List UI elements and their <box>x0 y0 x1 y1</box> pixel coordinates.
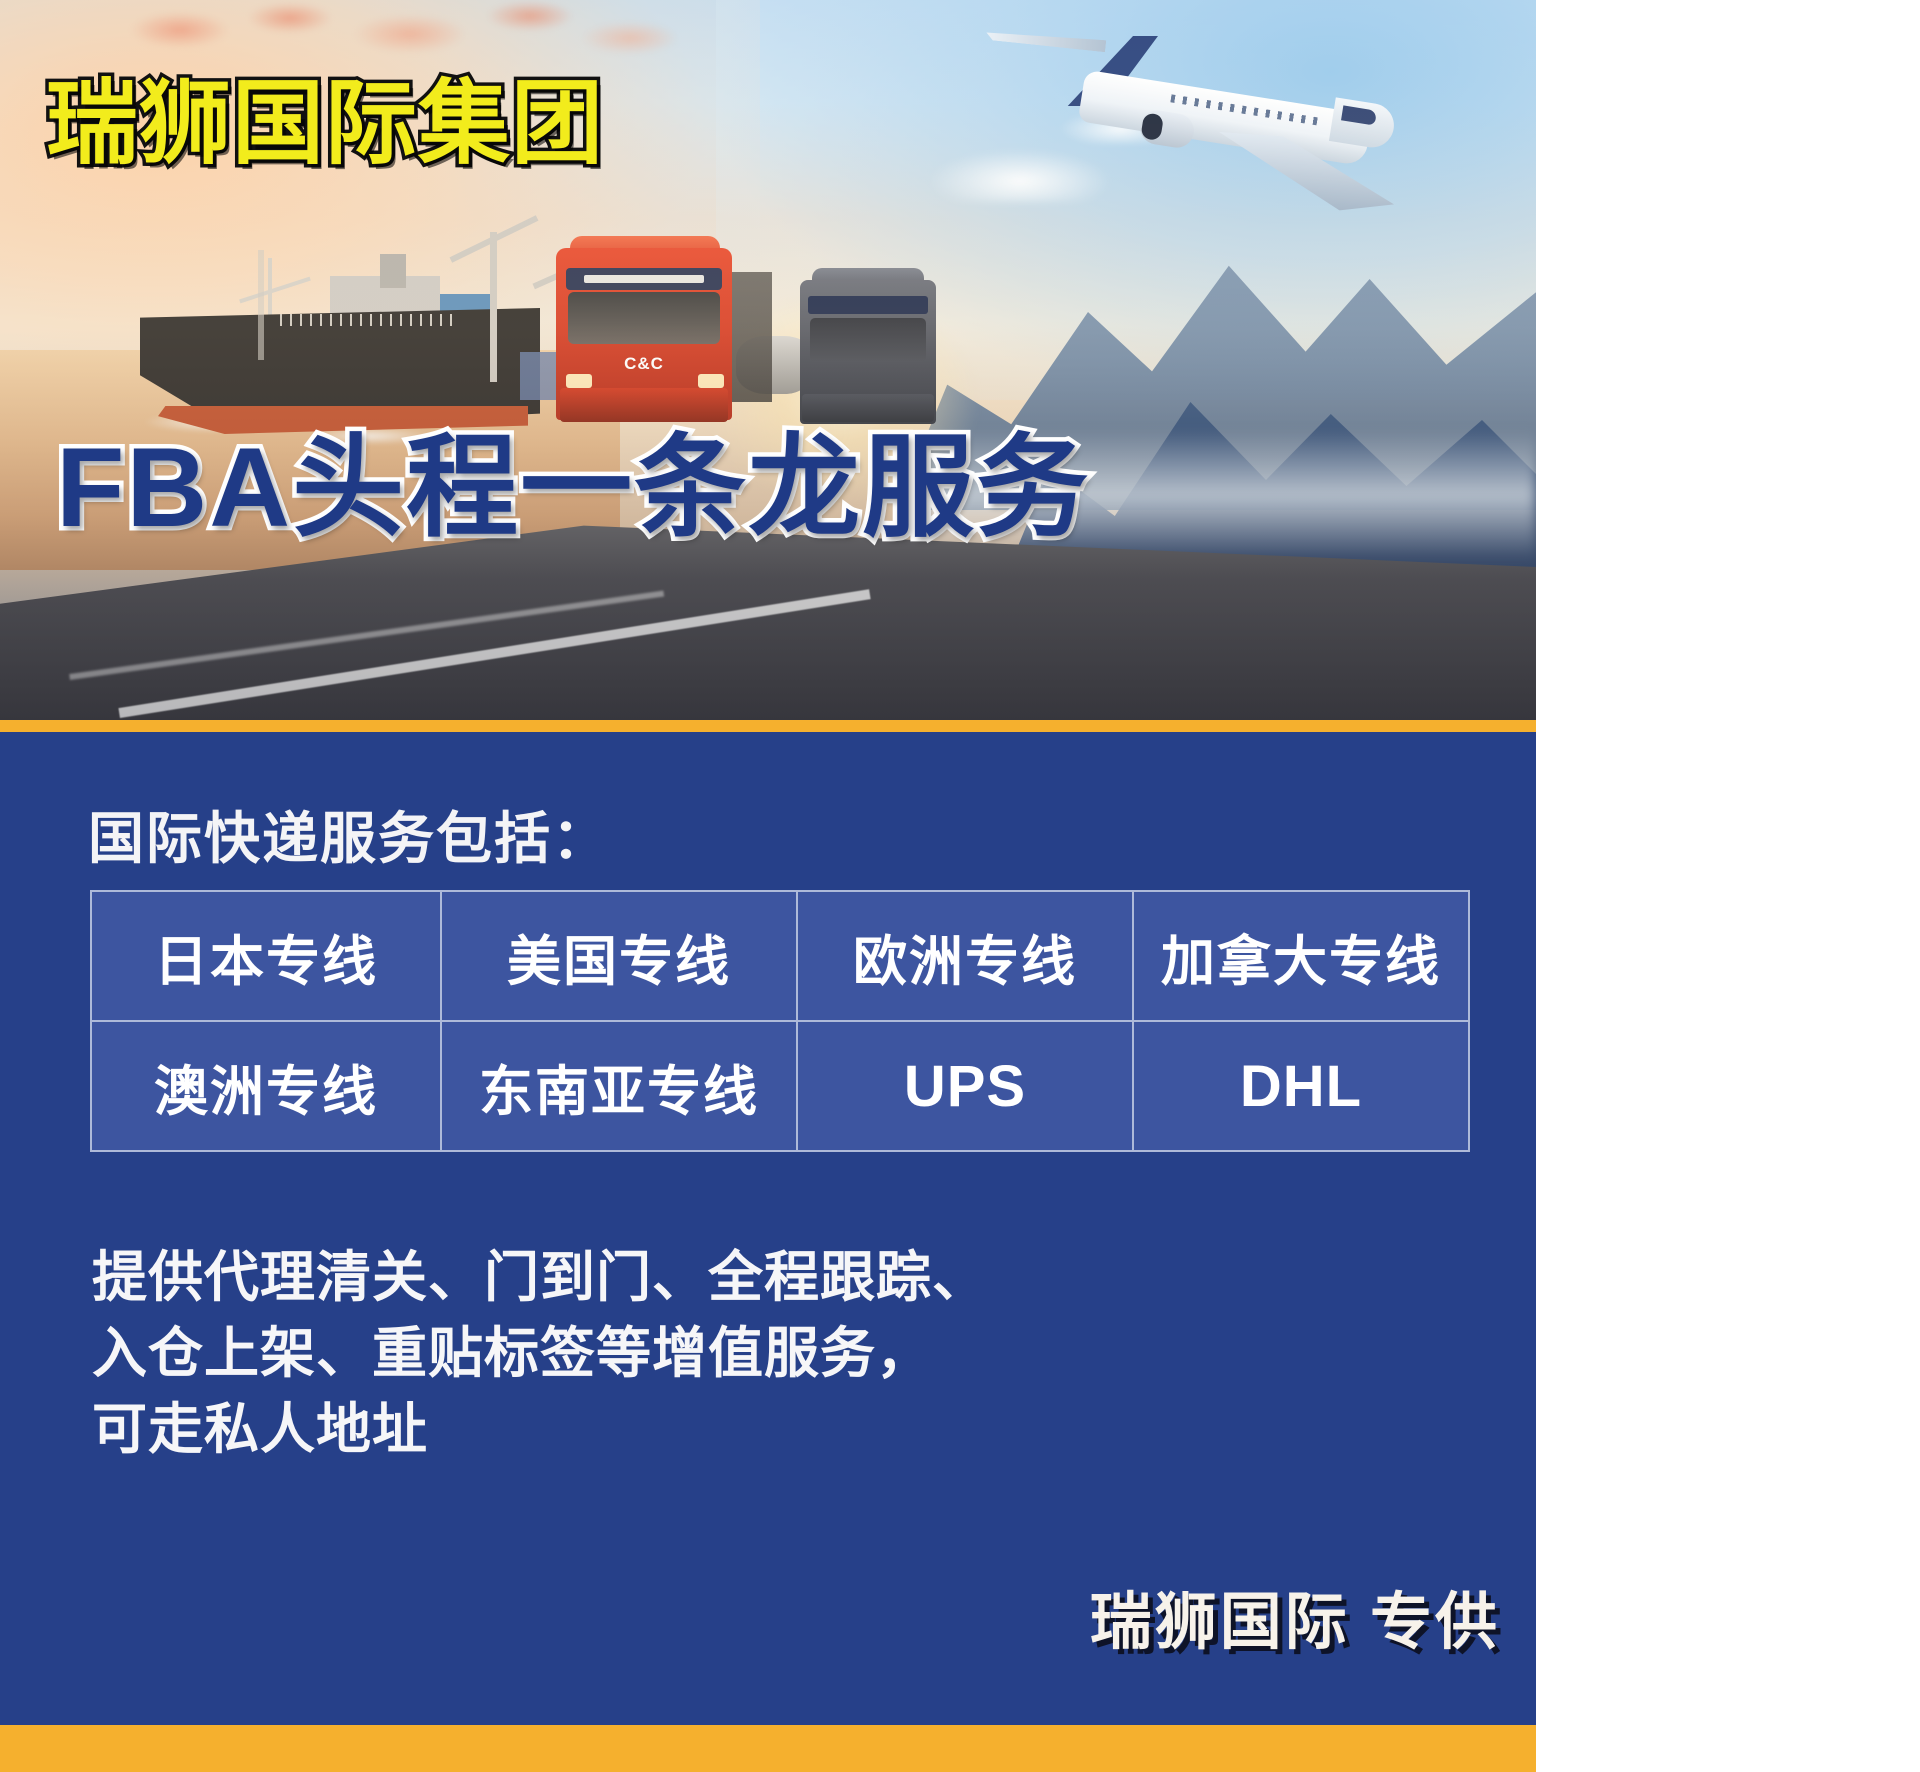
ship-railing <box>280 314 460 326</box>
service-cell-southeast-asia: 东南亚专线 <box>441 1021 797 1151</box>
red-truck-windshield <box>568 292 720 344</box>
service-cell-canada: 加拿大专线 <box>1133 891 1469 1021</box>
body-line-2: 入仓上架、重贴标签等增值服务， <box>92 1316 988 1392</box>
service-cell-australia: 澳洲专线 <box>91 1021 441 1151</box>
poster-root: C&C 瑞狮国际集团 FBA头程一条龙服务 国际快递服务包括： <box>0 0 1536 1772</box>
red-truck-headlight-right <box>698 374 724 388</box>
company-logo-text: 瑞狮国际集团 <box>46 78 604 170</box>
red-truck-badge: C&C <box>608 354 680 374</box>
port-crane-column-3 <box>258 250 264 360</box>
tanker-grille <box>808 296 928 314</box>
divider-bar-bottom <box>0 1725 1536 1772</box>
ship-funnel <box>380 254 406 288</box>
footer-brand-text: 瑞狮国际 专供 <box>1090 1571 1500 1661</box>
table-row: 日本专线 美国专线 欧洲专线 加拿大专线 <box>91 891 1469 1021</box>
jet-airplane-icon <box>1020 28 1420 228</box>
red-truck-bumper <box>560 388 728 422</box>
divider-bar-top <box>0 720 1536 732</box>
hero-headline: FBA头程一条龙服务 <box>56 432 1090 544</box>
red-truck-icon: C&C <box>556 228 756 428</box>
body-line-3: 可走私人地址 <box>92 1392 988 1468</box>
info-panel: 国际快递服务包括： 日本专线 美国专线 欧洲专线 加拿大专线 澳洲专线 东南亚专… <box>0 732 1536 1725</box>
tanker-truck-icon <box>800 262 950 432</box>
service-lines-table: 日本专线 美国专线 欧洲专线 加拿大专线 澳洲专线 东南亚专线 UPS DHL <box>90 890 1470 1152</box>
service-cell-europe: 欧洲专线 <box>797 891 1133 1021</box>
red-truck-headlight-left <box>566 374 592 388</box>
ship-boom <box>239 277 311 304</box>
plane-fuselage <box>1078 70 1373 167</box>
table-row: 澳洲专线 东南亚专线 UPS DHL <box>91 1021 1469 1151</box>
tanker-windshield <box>810 318 926 362</box>
plane-nose <box>1329 97 1397 150</box>
service-cell-japan: 日本专线 <box>91 891 441 1021</box>
value-added-services-copy: 提供代理清关、门到门、全程跟踪、 入仓上架、重贴标签等增值服务， 可走私人地址 <box>92 1240 988 1468</box>
section-title: 国际快递服务包括： <box>88 794 610 875</box>
cargo-ship-icon <box>140 230 560 440</box>
tanker-bumper <box>802 394 934 422</box>
service-cell-usa: 美国专线 <box>441 891 797 1021</box>
body-line-1: 提供代理清关、门到门、全程跟踪、 <box>92 1240 988 1316</box>
service-cell-ups: UPS <box>797 1021 1133 1151</box>
port-crane-column-1 <box>490 232 497 382</box>
red-truck-grille-panel <box>566 268 722 290</box>
service-cell-dhl: DHL <box>1133 1021 1469 1151</box>
